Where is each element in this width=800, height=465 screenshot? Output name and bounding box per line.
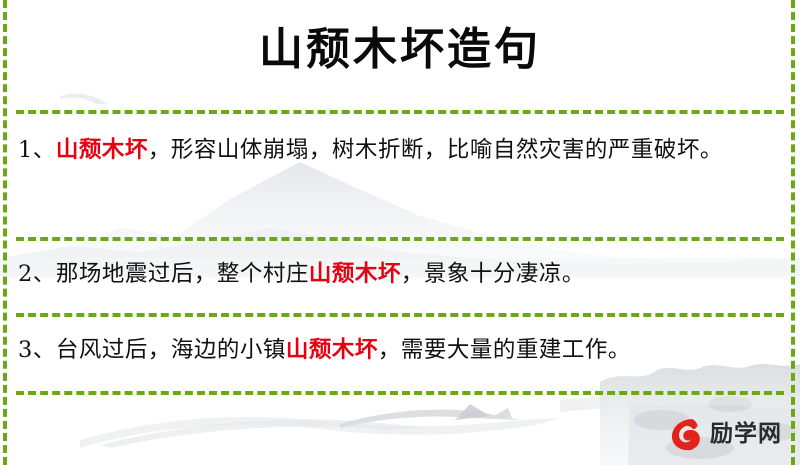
sentence-index: 3、 — [18, 337, 56, 363]
page-root: 山颓木坏造句 1、山颓木坏，形容山体崩塌，树木折断，比喻自然灾害的严重破坏。 2… — [0, 0, 800, 465]
sentence-list: 1、山颓木坏，形容山体崩塌，树木折断，比喻自然灾害的严重破坏。 2、那场地震过后… — [0, 110, 800, 391]
sentence-text: 那场地震过后，整个村庄 — [56, 261, 309, 287]
sentence-index: 1、 — [18, 137, 56, 163]
sentence-text: ，需要大量的重建工作。 — [378, 337, 631, 363]
sentence-text: ，形容山体崩塌，树木折断，比喻自然灾害的严重破坏。 — [148, 137, 723, 163]
site-logo[interactable]: 励学网 — [666, 415, 782, 453]
sentence-text: 台风过后，海边的小镇 — [56, 337, 286, 363]
page-title: 山颓木坏造句 — [0, 20, 800, 79]
idiom-highlight: 山颓木坏 — [56, 137, 148, 163]
idiom-highlight: 山颓木坏 — [286, 337, 378, 363]
divider-sentence-3 — [16, 391, 784, 395]
sentence-index: 2、 — [18, 261, 56, 287]
list-item: 1、山颓木坏，形容山体崩塌，树木折断，比喻自然灾害的严重破坏。 — [0, 110, 800, 237]
list-item: 2、那场地震过后，整个村庄山颓木坏，景象十分凄凉。 — [0, 237, 800, 313]
red-swirl-bird-icon — [666, 415, 704, 453]
logo-text: 励学网 — [710, 423, 782, 446]
idiom-highlight: 山颓木坏 — [309, 261, 401, 287]
sentence-text: ，景象十分凄凉。 — [401, 261, 585, 287]
list-item: 3、台风过后，海边的小镇山颓木坏，需要大量的重建工作。 — [0, 313, 800, 391]
